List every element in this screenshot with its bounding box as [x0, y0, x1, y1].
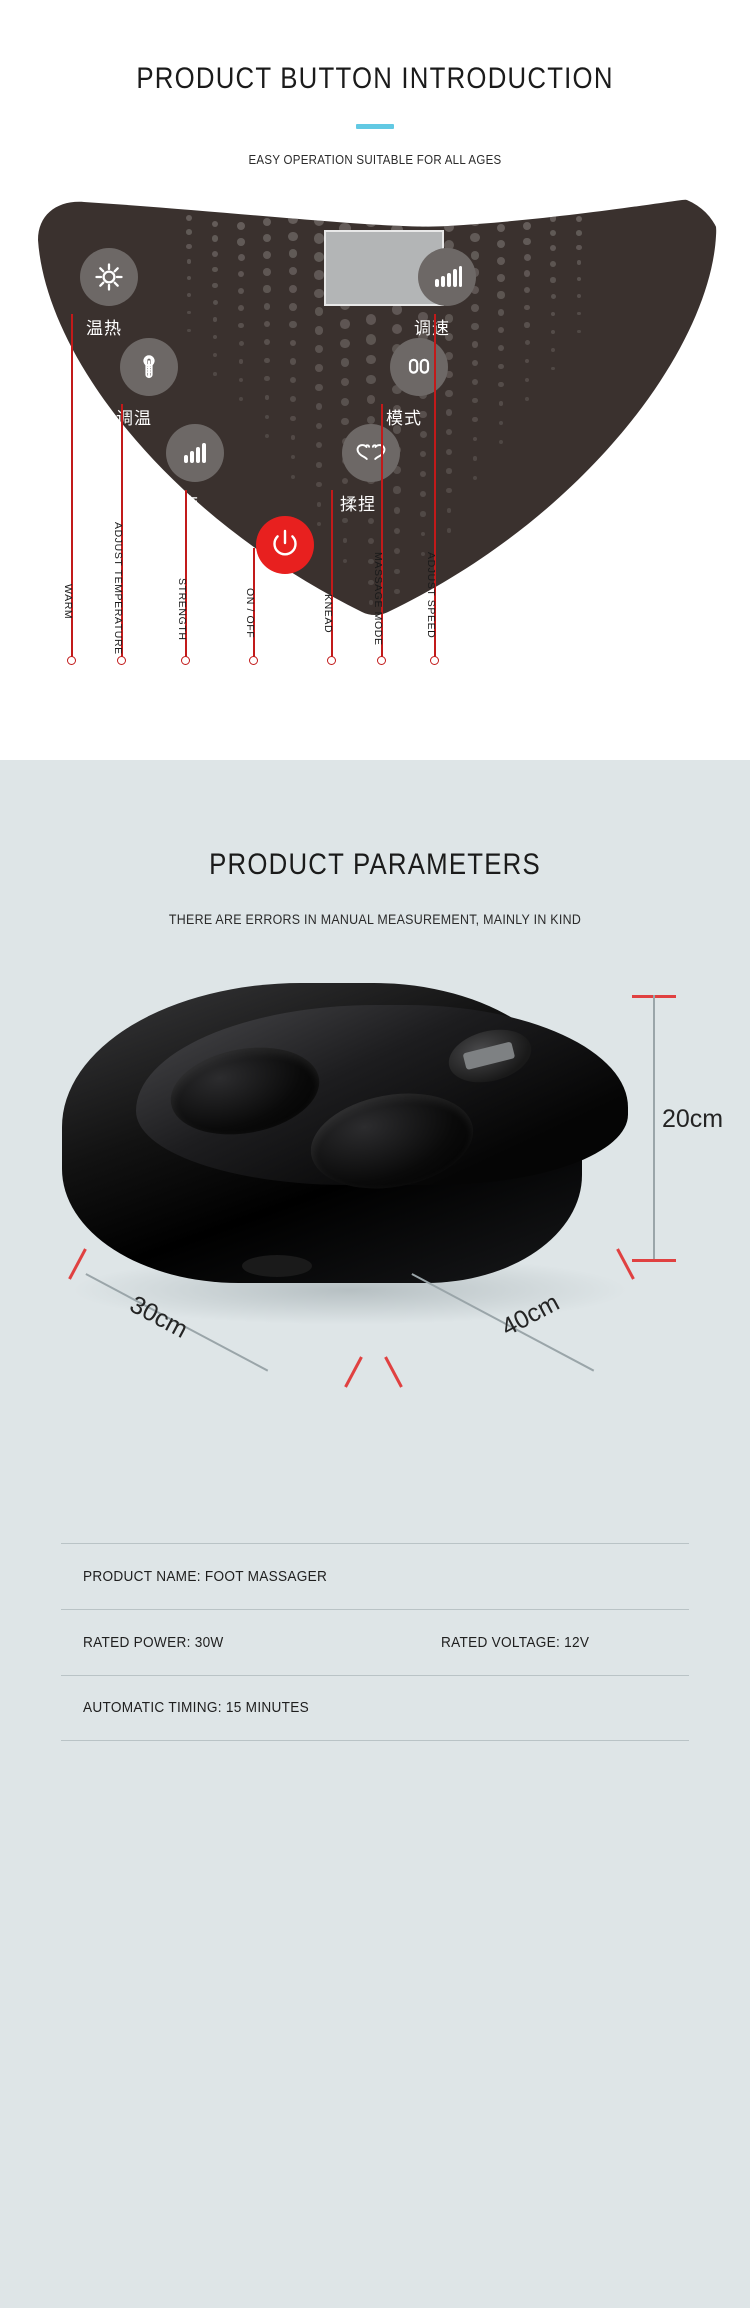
dot [187, 293, 191, 297]
dot [367, 395, 376, 404]
dot [288, 214, 298, 224]
spec-rated-voltage: RATED VOLTAGE: 12V [441, 1635, 589, 1651]
dot [550, 245, 556, 251]
dot-column [516, 196, 538, 401]
button-label-warm: 温热 [86, 314, 122, 339]
dot [265, 415, 269, 419]
dot [186, 229, 192, 235]
dot [289, 267, 298, 276]
dot [472, 398, 478, 404]
dim-tick-bottom [632, 1259, 676, 1262]
dot [263, 218, 272, 227]
dot [314, 289, 323, 298]
dot [343, 538, 348, 543]
control-panel-diagram: 温热 调温 [0, 196, 750, 636]
dot [213, 353, 217, 357]
dot [315, 384, 322, 391]
dot [288, 232, 297, 241]
dot [340, 319, 350, 329]
signal-bars-icon [432, 264, 462, 290]
dot [289, 285, 297, 293]
dot [263, 285, 270, 292]
dot [498, 327, 504, 333]
product-parameters-section: PRODUCT PARAMETERS THERE ARE ERRORS IN M… [0, 760, 750, 2308]
dot [577, 260, 582, 265]
dot [444, 222, 455, 233]
leader-dot-adjust-speed [430, 656, 439, 665]
callout-label-adjust-speed: ADJUST SPEED [425, 552, 437, 638]
button-adjust-temperature[interactable] [120, 338, 178, 396]
dot [420, 431, 427, 438]
dot [394, 548, 400, 554]
dot-column [464, 196, 486, 480]
dot [289, 321, 296, 328]
dot [365, 214, 378, 227]
leader-dot-warm [67, 656, 76, 665]
dot [525, 359, 530, 364]
dot [264, 303, 271, 310]
button-introduction-section: PRODUCT BUTTON INTRODUCTION EASY OPERATI… [0, 0, 750, 760]
dot [551, 367, 555, 371]
dot [497, 274, 505, 282]
dot [264, 321, 270, 327]
dot [497, 224, 506, 233]
dot [366, 314, 377, 325]
dot [470, 233, 479, 242]
dot [341, 358, 350, 367]
dot [577, 330, 580, 333]
thermometer-icon [135, 352, 163, 382]
dot [446, 488, 451, 493]
dim-tick-mid-left [344, 1356, 363, 1387]
grid-mode-icon [405, 353, 433, 381]
dot [187, 259, 192, 264]
dot [264, 376, 269, 381]
dot [394, 589, 399, 594]
dot [525, 378, 529, 382]
dot [212, 283, 217, 288]
dot [315, 307, 324, 316]
dot [577, 294, 581, 298]
leader-dot-strength [181, 656, 190, 665]
dot [290, 377, 296, 383]
dot [394, 528, 400, 534]
button-label-adjust-speed: 调速 [414, 314, 450, 339]
dot [290, 340, 297, 347]
dot-column [282, 196, 304, 479]
dot [551, 312, 556, 317]
dot [342, 518, 347, 523]
dot [237, 222, 245, 230]
dot [317, 502, 322, 507]
dot [366, 355, 376, 365]
dot [525, 397, 529, 401]
dot [550, 277, 555, 282]
dot [263, 251, 271, 259]
dot-column [256, 196, 278, 438]
dot [186, 244, 191, 249]
dot [576, 216, 582, 222]
dot [187, 276, 191, 280]
dot [577, 277, 581, 281]
button-adjust-speed[interactable] [418, 248, 476, 306]
dot [291, 455, 296, 460]
dot [472, 379, 478, 385]
dot [499, 440, 503, 444]
dot [393, 486, 400, 493]
dot [366, 334, 376, 344]
dot [523, 238, 531, 246]
dot [341, 378, 349, 386]
dot [471, 323, 478, 330]
table-row: PRODUCT NAME: FOOT MASSAGER [61, 1543, 689, 1609]
dot [317, 522, 321, 526]
dot [290, 396, 296, 402]
dot [447, 508, 452, 513]
button-knead[interactable] [342, 424, 400, 482]
dot [239, 397, 243, 401]
dot [524, 254, 531, 261]
dot [291, 475, 295, 479]
dot [472, 417, 477, 422]
dot-column [490, 196, 512, 444]
dot [239, 378, 243, 382]
dot [289, 249, 298, 258]
table-row: RATED POWER: 30W RATED VOLTAGE: 12V [61, 1609, 689, 1675]
dim-line-height [653, 995, 655, 1261]
dot-column [568, 196, 590, 333]
dot [471, 304, 479, 312]
table-row: AUTOMATIC TIMING: 15 MINUTES [61, 1675, 689, 1741]
dot [551, 294, 556, 299]
dot [576, 245, 581, 250]
dot [341, 418, 348, 425]
dot [289, 303, 297, 311]
dot [212, 267, 218, 273]
dot [524, 287, 530, 293]
dot [316, 482, 321, 487]
signal-bars-icon [180, 440, 210, 466]
dot [497, 257, 505, 265]
dot [368, 518, 374, 524]
dot [551, 330, 555, 334]
dot [212, 221, 219, 228]
leader-dot-power [249, 656, 258, 665]
dot [499, 401, 504, 406]
dot [264, 339, 270, 345]
params-subtitle: THERE ARE ERRORS IN MANUAL MEASUREMENT, … [30, 912, 720, 927]
dot [186, 215, 192, 221]
dot [577, 312, 581, 316]
dot [550, 230, 557, 237]
dot [421, 532, 426, 537]
dot [498, 309, 505, 316]
dot [524, 322, 529, 327]
dim-tick-mid-right [384, 1356, 403, 1387]
dot-column [178, 196, 200, 332]
dot [472, 341, 479, 348]
dot [316, 462, 322, 468]
dot [447, 528, 451, 532]
dot [314, 233, 324, 243]
dot [470, 216, 480, 226]
dot [213, 372, 217, 376]
dot [446, 449, 452, 455]
dot [290, 358, 297, 365]
dot [238, 288, 244, 294]
button-strength[interactable] [166, 424, 224, 482]
spec-rated-power: RATED POWER: 30W [83, 1635, 224, 1651]
dot [420, 471, 426, 477]
dot [213, 335, 217, 339]
dot [291, 435, 296, 440]
callout-label-warm: WARM [62, 584, 74, 619]
callout-label-knead: KNEAD [322, 594, 334, 633]
params-title: PRODUCT PARAMETERS [53, 848, 698, 882]
specifications-table: PRODUCT NAME: FOOT MASSAGER RATED POWER:… [61, 1515, 689, 1741]
leader-dot-knead [327, 656, 336, 665]
button-warm[interactable] [80, 248, 138, 306]
dot [212, 235, 219, 242]
dot [576, 230, 582, 236]
dot [316, 403, 323, 410]
dot [417, 216, 429, 228]
dot [550, 215, 557, 222]
dot [263, 234, 271, 242]
dot [265, 434, 269, 438]
dot [550, 261, 556, 267]
dot [213, 317, 218, 322]
callout-label-massage-mode: MASSAGE MODE [372, 552, 384, 646]
dot [367, 416, 375, 424]
product-detail-page: PRODUCT BUTTON INTRODUCTION EASY OPERATI… [0, 0, 750, 2308]
dot [237, 238, 245, 246]
spec-automatic-timing: AUTOMATIC TIMING: 15 MINUTES [83, 1700, 309, 1716]
dot [238, 271, 245, 278]
dot [316, 423, 322, 429]
dot [314, 252, 324, 262]
power-icon [269, 527, 301, 564]
dot [315, 326, 323, 334]
dot [392, 324, 403, 335]
dot [498, 345, 504, 351]
dot [525, 340, 530, 345]
button-massage-mode[interactable] [390, 338, 448, 396]
dot [498, 382, 503, 387]
dot [341, 398, 349, 406]
dot [445, 390, 452, 397]
dot [314, 270, 324, 280]
callout-label-strength: STRENGTH [176, 578, 188, 641]
dot [523, 222, 531, 230]
button-label-strength: 强度 [163, 490, 199, 515]
dot-column [230, 196, 252, 401]
dot [368, 538, 374, 544]
dot [366, 375, 375, 384]
dot [238, 254, 245, 261]
dot-column [204, 196, 226, 376]
massager-lcd [463, 1041, 516, 1070]
dot [239, 341, 244, 346]
dot [314, 215, 325, 226]
dot [420, 491, 426, 497]
dot [395, 610, 400, 615]
dot [264, 358, 270, 364]
spec-product-name: PRODUCT NAME: FOOT MASSAGER [83, 1569, 327, 1585]
dot [473, 476, 477, 480]
dot [446, 468, 452, 474]
leader-dot-massage-mode [377, 656, 386, 665]
dot [497, 240, 505, 248]
dot [239, 359, 244, 364]
dot [471, 251, 480, 260]
dot [213, 300, 218, 305]
dot [316, 442, 322, 448]
dot-column [542, 196, 564, 370]
title-accent-bar [356, 124, 394, 129]
dot [187, 311, 191, 315]
dot [340, 339, 349, 348]
dot [238, 305, 244, 311]
dot [420, 451, 427, 458]
dot [551, 348, 555, 352]
dot [265, 395, 270, 400]
dot [473, 437, 478, 442]
product-photo-with-dimensions: 20cm 30cm 40cm [0, 955, 750, 1515]
dot [212, 251, 218, 257]
massager-foot-pad [242, 1255, 312, 1277]
dot [315, 364, 323, 372]
page-subtitle: EASY OPERATION SUITABLE FOR ALL AGES [30, 153, 720, 167]
callout-label-adjust-temperature: ADJUST TEMPERATURE [112, 522, 124, 655]
dot [187, 329, 190, 332]
dot [498, 364, 504, 370]
dot [394, 569, 400, 575]
knead-feet-icon [354, 440, 388, 466]
sun-icon [94, 262, 124, 292]
dot [499, 421, 503, 425]
dot [524, 305, 530, 311]
dot [472, 360, 479, 367]
button-power-on-off[interactable] [256, 516, 314, 574]
dim-label-height: 20cm [662, 1105, 723, 1134]
page-title: PRODUCT BUTTON INTRODUCTION [53, 0, 698, 96]
dot [524, 270, 531, 277]
button-label-massage-mode: 模式 [386, 404, 422, 429]
dot [497, 291, 504, 298]
dot [420, 511, 425, 516]
dot [446, 409, 453, 416]
dot [394, 507, 401, 514]
dot [473, 456, 478, 461]
dot [343, 559, 348, 564]
dot [342, 478, 348, 484]
dot [263, 268, 271, 276]
dot [238, 323, 243, 328]
button-label-knead: 揉捏 [340, 490, 376, 515]
dot [290, 416, 295, 421]
foot-massager-body [62, 983, 582, 1283]
dot [315, 345, 323, 353]
dot [446, 429, 452, 435]
leader-dot-adjust-temperature [117, 656, 126, 665]
callout-label-power: ON / OFF [244, 588, 256, 638]
